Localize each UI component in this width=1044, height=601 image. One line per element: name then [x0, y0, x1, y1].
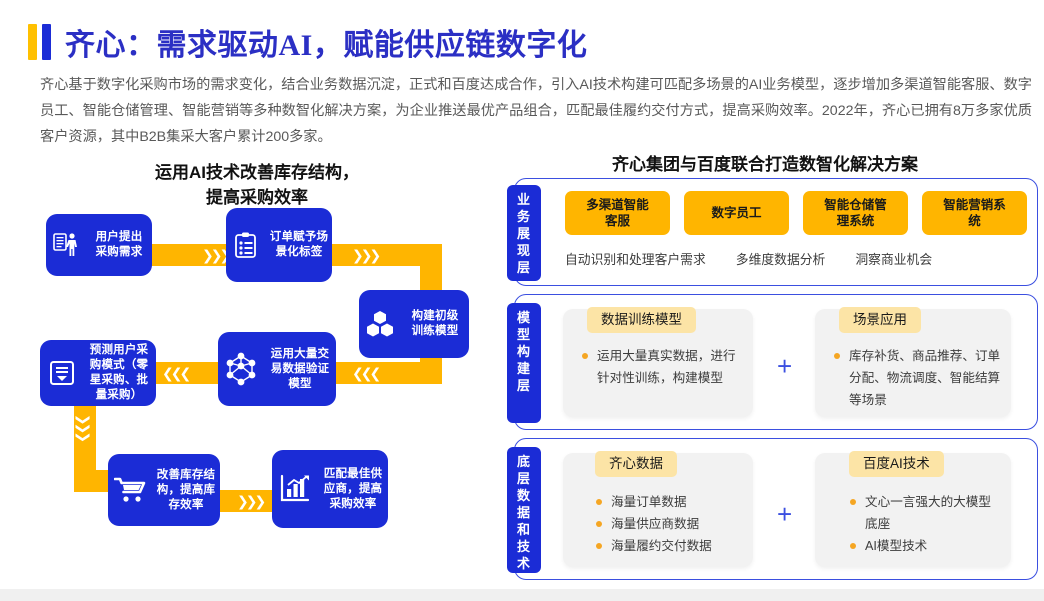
card-bullets-baidu: 文心一言强大的大模型底座 AI模型技术 [849, 491, 999, 557]
bullet-item: AI模型技术 [849, 535, 999, 557]
accent-bar-yellow [28, 24, 37, 60]
flow-node-label: 用户提出 采购需求 [86, 230, 152, 260]
page-title: 齐心：需求驱动AI，赋能供应链数字化 [65, 20, 587, 64]
flow-node-label: 预测用户采 购模式（零 星采购、批 量采购） [82, 343, 156, 403]
flow-node-label: 改善库存结 构，提高库 存效率 [152, 468, 220, 513]
bullet-item: 文心一言强大的大模型底座 [849, 491, 999, 535]
layer-tab-model: 模 型 构 建 层 [507, 303, 541, 423]
slide-root: 齐心：需求驱动AI，赋能供应链数字化 齐心基于数字化采购市场的需求变化，结合业务… [0, 0, 1044, 601]
flow-node-predict-pattern[interactable]: 预测用户采 购模式（零 星采购、批 量采购） [40, 340, 156, 406]
flow-node-improve-inventory[interactable]: 改善库存结 构，提高库 存效率 [108, 454, 220, 526]
clipboard-list-icon [226, 231, 266, 259]
pill-smart-warehouse[interactable]: 智能仓储管 理系统 [803, 191, 908, 235]
pill-digital-employee[interactable]: 数字员工 [684, 191, 789, 235]
pill-multichannel-service[interactable]: 多渠道智能 客服 [565, 191, 670, 235]
card-tag-data-training: 数据训练模型 [587, 307, 696, 333]
card-tag-scenario: 场景应用 [839, 307, 921, 333]
card-scenario-application[interactable]: 场景应用 库存补货、商品推荐、订单分配、物流调度、智能结算等场景 [815, 309, 1011, 417]
chevron-right-icon-2: ❯❯❯ [352, 248, 378, 262]
pill-smart-marketing[interactable]: 智能营销系 统 [922, 191, 1027, 235]
card-qixin-data[interactable]: 齐心数据 海量订单数据 海量供应商数据 海量履约交付数据 [563, 453, 753, 567]
chevron-down-icon: ❯❯❯ [77, 414, 91, 440]
layer-tab-data: 底 层 数 据 和 技 术 [507, 447, 541, 573]
flow-node-label: 构建初级 训练模型 [401, 309, 469, 339]
footer-strip [0, 589, 1044, 601]
card-bullets-qixin: 海量订单数据 海量供应商数据 海量履约交付数据 [595, 491, 747, 557]
cubes-icon [359, 310, 401, 338]
flow-title-line2: 提高采购效率 [22, 185, 492, 210]
card-baidu-ai[interactable]: 百度AI技术 文心一言强大的大模型底座 AI模型技术 [815, 453, 1011, 567]
flow-diagram: 运用AI技术改善库存结构， 提高采购效率 ❯❯❯ ❯❯❯ ❮❮❮ ❮❮❮ ❯❯❯… [22, 150, 492, 570]
flow-node-user-request[interactable]: 用户提出 采购需求 [46, 214, 152, 276]
flow-node-label: 匹配最佳供 应商，提高 采购效率 [318, 467, 388, 512]
flow-node-validate-model[interactable]: 运用大量交 易数据验证 模型 [218, 332, 336, 406]
flow-node-label: 运用大量交 易数据验证 模型 [264, 347, 336, 392]
chevron-left-icon-2: ❮❮❮ [162, 366, 188, 380]
card-bullets-data-training: 运用大量真实数据，进行针对性训练，构建模型 [581, 345, 741, 389]
chevron-right-icon-1: ❯❯❯ [202, 248, 228, 262]
card-tag-baidu-ai: 百度AI技术 [849, 451, 944, 477]
accent-bar-blue [42, 24, 51, 60]
subline-multidim-analysis: 多维度数据分析 [736, 249, 826, 268]
shopping-cart-icon [108, 476, 152, 504]
business-subline-row: 自动识别和处理客户需求 多维度数据分析 洞察商业机会 [565, 249, 1025, 268]
flow-title: 运用AI技术改善库存结构， 提高采购效率 [22, 160, 492, 210]
card-bullets-scenario: 库存补货、商品推荐、订单分配、物流调度、智能结算等场景 [833, 345, 1001, 411]
bullet-item: 海量供应商数据 [595, 513, 747, 535]
flow-node-order-tagging[interactable]: 订单赋予场 景化标签 [226, 208, 332, 282]
page-header: 齐心：需求驱动AI，赋能供应链数字化 [28, 20, 587, 64]
bullet-item: 运用大量真实数据，进行针对性训练，构建模型 [581, 345, 741, 389]
plus-separator-data: + [777, 501, 792, 527]
flow-title-line1: 运用AI技术改善库存结构， [22, 160, 492, 185]
layer-business-presentation: 业 务 展 现 层 多渠道智能 客服 数字员工 智能仓储管 理系统 智能营销系 … [514, 178, 1038, 286]
subline-auto-recognize: 自动识别和处理客户需求 [565, 249, 706, 268]
chevron-right-icon-3: ❯❯❯ [237, 494, 263, 508]
inbox-icon [40, 359, 84, 387]
solution-title: 齐心集团与百度联合打造数智化解决方案 [492, 150, 1038, 175]
subline-business-insight: 洞察商业机会 [855, 249, 932, 268]
card-tag-qixin-data: 齐心数据 [595, 451, 677, 477]
plus-separator-model: + [777, 353, 792, 379]
network-graph-icon [218, 352, 264, 386]
layer-tab-business: 业 务 展 现 层 [507, 185, 541, 281]
bullet-item: 海量订单数据 [595, 491, 747, 513]
card-data-training-model[interactable]: 数据训练模型 运用大量真实数据，进行针对性训练，构建模型 [563, 309, 753, 417]
layer-data-technology: 底 层 数 据 和 技 术 齐心数据 海量订单数据 海量供应商数据 海量履约交付… [514, 438, 1038, 580]
chevron-left-icon-1: ❮❮❮ [352, 366, 378, 380]
intro-paragraph: 齐心基于数字化采购市场的需求变化，结合业务数据沉淀，正式和百度达成合作，引入AI… [40, 72, 1032, 150]
user-document-icon [46, 231, 86, 259]
bar-chart-arrow-icon [272, 474, 318, 504]
flow-node-primary-model[interactable]: 构建初级 训练模型 [359, 290, 469, 358]
layer-model-building: 模 型 构 建 层 数据训练模型 运用大量真实数据，进行针对性训练，构建模型 +… [514, 294, 1038, 430]
flow-node-match-supplier[interactable]: 匹配最佳供 应商，提高 采购效率 [272, 450, 388, 528]
bullet-item: 库存补货、商品推荐、订单分配、物流调度、智能结算等场景 [833, 345, 1001, 411]
flow-node-label: 订单赋予场 景化标签 [266, 230, 332, 260]
bullet-item: 海量履约交付数据 [595, 535, 747, 557]
solution-panel: 齐心集团与百度联合打造数智化解决方案 业 务 展 现 层 多渠道智能 客服 数字… [492, 150, 1038, 585]
business-pill-row: 多渠道智能 客服 数字员工 智能仓储管 理系统 智能营销系 统 [565, 191, 1027, 235]
